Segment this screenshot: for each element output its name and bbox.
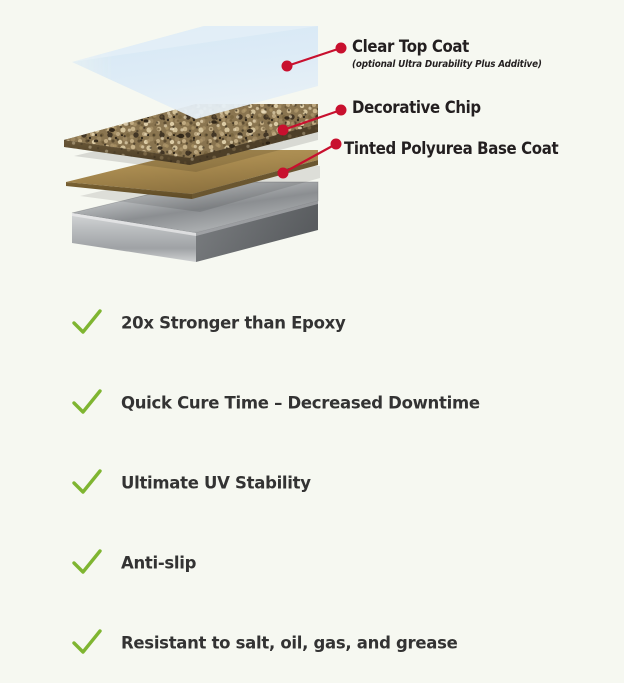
checkmark-icon bbox=[70, 627, 104, 659]
checkmark-icon bbox=[70, 467, 104, 499]
list-item: Quick Cure Time – Decreased Downtime bbox=[0, 363, 624, 443]
list-item-label: 20x Stronger than Epoxy bbox=[121, 314, 345, 333]
list-item: 20x Stronger than Epoxy bbox=[0, 283, 624, 363]
callout-decorative-chip: Decorative Chip bbox=[352, 99, 498, 118]
callout-title: Clear Top Coat bbox=[352, 38, 542, 57]
callout-title: Decorative Chip bbox=[352, 99, 481, 118]
list-item-label: Resistant to salt, oil, gas, and grease bbox=[121, 634, 458, 653]
promo-panel: Clear Top Coat (optional Ultra Durabilit… bbox=[0, 0, 624, 675]
callout-clear-top-coat: Clear Top Coat (optional Ultra Durabilit… bbox=[352, 38, 568, 71]
checkmark-icon bbox=[70, 387, 104, 419]
list-item-label: Ultimate UV Stability bbox=[121, 474, 311, 493]
checkmark-icon bbox=[70, 307, 104, 339]
list-item-label: Quick Cure Time – Decreased Downtime bbox=[121, 394, 480, 413]
checkmark-icon bbox=[70, 547, 104, 579]
list-item: Resistant to salt, oil, gas, and grease bbox=[0, 603, 624, 683]
list-item-label: Anti-slip bbox=[121, 554, 196, 573]
callout-subtitle: (optional Ultra Durability Plus Additive… bbox=[352, 59, 542, 71]
callout-tinted-polyurea-base-coat: Tinted Polyurea Base Coat bbox=[344, 140, 587, 159]
callout-title: Tinted Polyurea Base Coat bbox=[344, 140, 558, 159]
list-item: Anti-slip bbox=[0, 523, 624, 603]
benefits-list: 20x Stronger than Epoxy Quick Cure Time … bbox=[0, 283, 624, 683]
list-item: Ultimate UV Stability bbox=[0, 443, 624, 523]
